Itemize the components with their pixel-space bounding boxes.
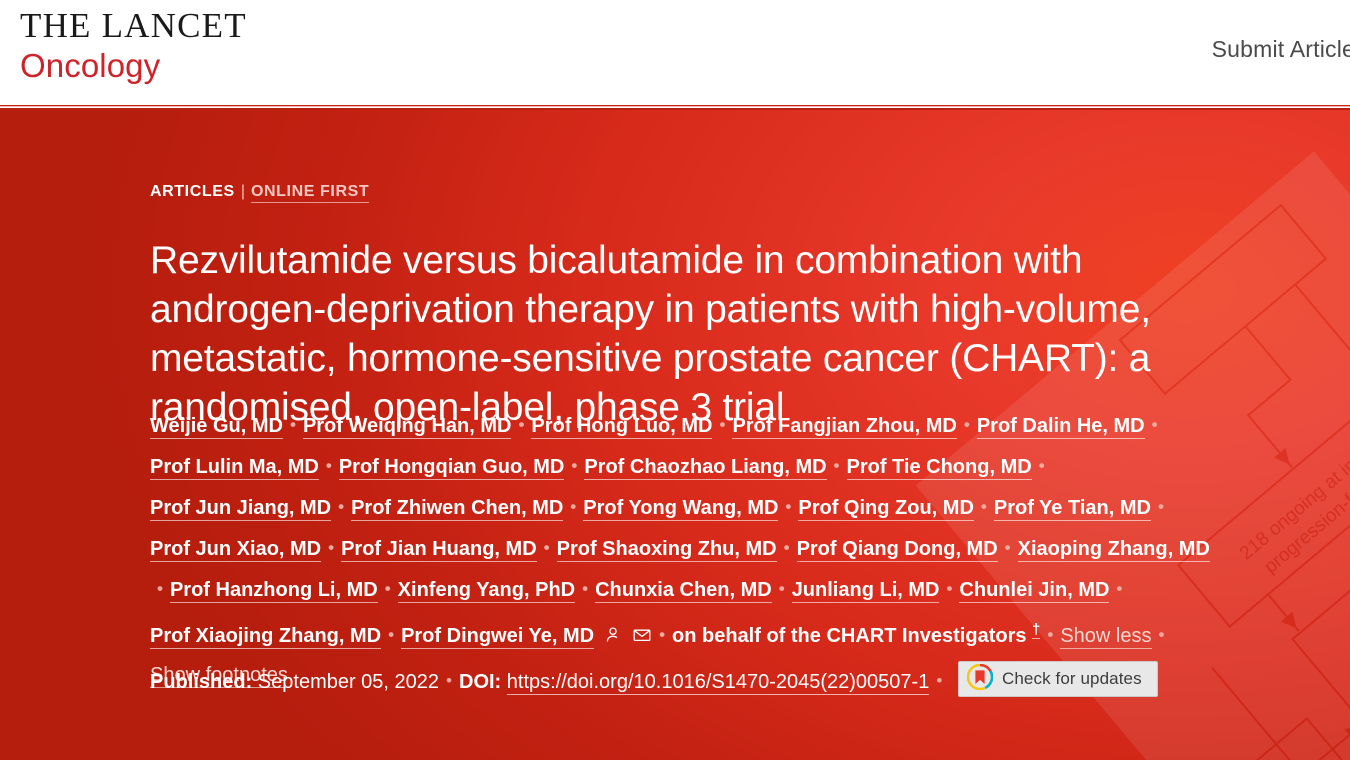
author-separator-dot: • xyxy=(388,615,394,654)
publication-meta: Published: September 05, 2022•DOI: https… xyxy=(150,671,949,694)
author-link[interactable]: Prof Qiang Dong, MD xyxy=(797,538,998,562)
author-separator-dot: • xyxy=(779,569,785,608)
footnote-dagger-marker[interactable]: † xyxy=(1032,621,1040,639)
author-separator-dot: • xyxy=(719,405,725,444)
breadcrumb: ARTICLES|ONLINE FIRST xyxy=(150,183,369,201)
author-separator-dot: • xyxy=(385,569,391,608)
logo-oncology: Oncology xyxy=(20,49,247,82)
doi-link[interactable]: https://doi.org/10.1016/S1470-2045(22)00… xyxy=(507,671,930,695)
author-link[interactable]: Prof Jun Jiang, MD xyxy=(150,497,331,521)
author-link[interactable]: Prof Yong Wang, MD xyxy=(583,497,778,521)
author-separator-dot: • xyxy=(338,487,344,526)
author-link[interactable]: Prof Xiaojing Zhang, MD xyxy=(150,625,381,649)
crossmark-check-for-updates-button[interactable]: Check for updates xyxy=(958,661,1158,697)
author-separator-dot: • xyxy=(784,528,790,567)
logo-the-lancet: THE LANCET xyxy=(20,8,247,43)
show-less-button[interactable]: Show less xyxy=(1060,625,1151,649)
author-link[interactable]: Prof Tie Chong, MD xyxy=(847,456,1032,480)
author-link[interactable]: Prof Chaozhao Liang, MD xyxy=(584,456,826,480)
author-link[interactable]: Prof Jian Huang, MD xyxy=(341,538,537,562)
author-link[interactable]: Prof Hongqian Guo, MD xyxy=(339,456,565,480)
site-header: THE LANCET Oncology Submit Article xyxy=(0,0,1350,105)
author-link[interactable]: Prof Fangjian Zhou, MD xyxy=(732,415,956,439)
corresponding-author-link[interactable]: Prof Dingwei Ye, MD xyxy=(401,625,594,649)
author-separator-dot: • xyxy=(582,569,588,608)
author-affiliation-icon[interactable] xyxy=(603,625,623,645)
author-separator-dot: • xyxy=(785,487,791,526)
breadcrumb-separator: | xyxy=(241,183,245,200)
author-link[interactable]: Prof Dalin He, MD xyxy=(977,415,1145,439)
group-author-label: on behalf of the CHART Investigators † xyxy=(672,625,1040,647)
author-link[interactable]: Prof Qing Zou, MD xyxy=(798,497,974,521)
breadcrumb-status-online-first[interactable]: ONLINE FIRST xyxy=(251,183,369,203)
doi-label: DOI: xyxy=(459,671,501,693)
author-separator-dot: • xyxy=(659,615,665,654)
submit-article-link[interactable]: Submit Article xyxy=(1212,36,1350,63)
author-link[interactable]: Prof Lulin Ma, MD xyxy=(150,456,319,480)
email-author-icon[interactable] xyxy=(632,625,652,645)
svg-text:27 discontinu: 27 discontinu xyxy=(1346,553,1350,641)
author-separator-dot: • xyxy=(946,569,952,608)
author-link[interactable]: Junliang Li, MD xyxy=(792,579,940,603)
author-separator-dot: • xyxy=(328,528,334,567)
author-link[interactable]: Weijie Gu, MD xyxy=(150,415,283,439)
author-separator-dot: • xyxy=(981,487,987,526)
author-separator-dot: • xyxy=(1047,615,1053,654)
crossmark-label: Check for updates xyxy=(1002,669,1142,689)
author-link[interactable]: Xiaoping Zhang, MD xyxy=(1018,538,1210,562)
article-hero-page: THE LANCET Oncology Submit Article xyxy=(0,0,1350,760)
author-separator-dot: • xyxy=(570,487,576,526)
hero-banner: 218 ongoing at inte progression-fre 27 d… xyxy=(0,108,1350,760)
author-link[interactable]: Prof Hong Luo, MD xyxy=(531,415,712,439)
author-link[interactable]: Prof Zhiwen Chen, MD xyxy=(351,497,563,521)
author-separator-dot: • xyxy=(834,446,840,485)
author-link[interactable]: Prof Shaoxing Zhu, MD xyxy=(557,538,777,562)
author-separator-dot: • xyxy=(1152,405,1158,444)
page-title: Rezvilutamide versus bicalutamide in com… xyxy=(150,236,1260,432)
author-separator-dot: • xyxy=(326,446,332,485)
author-separator-dot: • xyxy=(1005,528,1011,567)
crossmark-logo-icon xyxy=(967,664,993,695)
author-separator-dot: • xyxy=(290,405,296,444)
author-link[interactable]: Prof Jun Xiao, MD xyxy=(150,538,321,562)
published-date: September 05, 2022 xyxy=(258,671,439,693)
author-link[interactable]: Chunlei Jin, MD xyxy=(959,579,1109,603)
author-separator-dot: • xyxy=(1039,446,1045,485)
header-divider xyxy=(0,104,1350,110)
author-separator-dot: • xyxy=(518,405,524,444)
author-link[interactable]: Xinfeng Yang, PhD xyxy=(398,579,575,603)
author-separator-dot: • xyxy=(571,446,577,485)
author-separator-dot: • xyxy=(964,405,970,444)
author-separator-dot: • xyxy=(1116,569,1122,608)
author-link[interactable]: Prof Weiqing Han, MD xyxy=(303,415,512,439)
author-link[interactable]: Prof Hanzhong Li, MD xyxy=(170,579,378,603)
group-author-text: on behalf of the CHART Investigators xyxy=(672,625,1026,647)
published-label: Published: xyxy=(150,671,252,693)
author-link[interactable]: Chunxia Chen, MD xyxy=(595,579,772,603)
author-list: Weijie Gu, MD•Prof Weiqing Han, MD•Prof … xyxy=(150,405,1225,695)
svg-text:progression-fre: progression-fre xyxy=(1260,480,1350,578)
author-separator-dot: • xyxy=(544,528,550,567)
journal-logo[interactable]: THE LANCET Oncology xyxy=(20,8,247,82)
author-link[interactable]: Prof Ye Tian, MD xyxy=(994,497,1151,521)
author-separator-dot: • xyxy=(1158,487,1164,526)
breadcrumb-section[interactable]: ARTICLES xyxy=(150,183,235,200)
meta-separator-dot: • xyxy=(446,671,452,691)
svg-text:218 ongoing at inte: 218 ongoing at inte xyxy=(1236,444,1350,564)
author-separator-dot: • xyxy=(1159,615,1165,654)
author-separator-dot: • xyxy=(157,569,163,608)
meta-separator-dot: • xyxy=(936,671,942,691)
